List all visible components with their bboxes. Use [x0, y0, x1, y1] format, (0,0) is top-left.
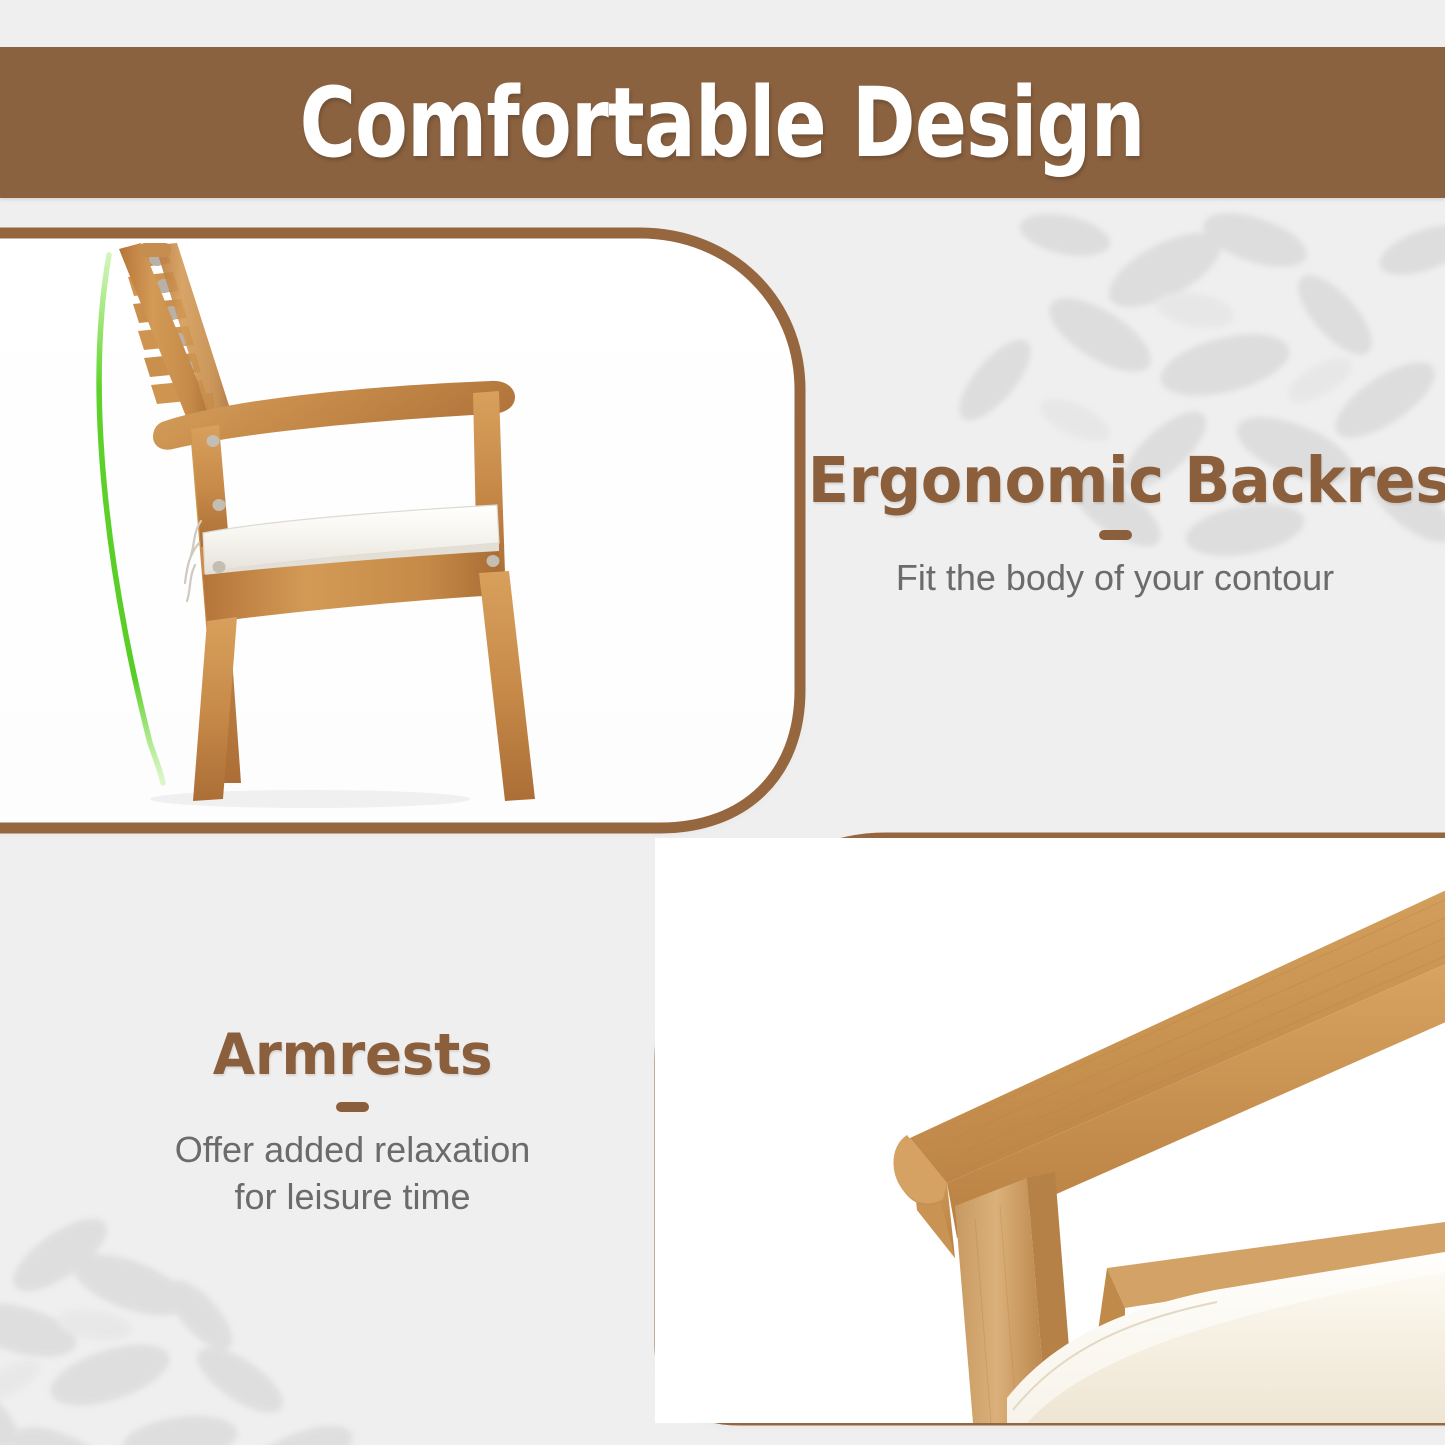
- infographic-page: Comfortable Design: [0, 0, 1445, 1445]
- feature-armrests: Armrests Offer added relaxation for leis…: [40, 1026, 665, 1221]
- armrest-image-panel: [655, 838, 1445, 1423]
- header-banner: Comfortable Design: [0, 47, 1445, 198]
- armrest-closeup-illustration: [655, 838, 1445, 1423]
- title-divider-dash: [1099, 530, 1132, 540]
- feature-title: Armrests: [53, 1026, 653, 1086]
- chair-side-view-illustration: [95, 243, 595, 818]
- page-title: Comfortable Design: [300, 75, 1145, 171]
- feature-subtitle: Fit the body of your contour: [795, 554, 1435, 602]
- backrest-image-panel: [0, 233, 800, 828]
- feature-subtitle-line-2: for leisure time: [40, 1173, 665, 1221]
- feature-title: Ergonomic Backrest: [808, 448, 1422, 514]
- feature-ergonomic-backrest: Ergonomic Backrest Fit the body of your …: [795, 448, 1435, 602]
- feature-subtitle-line-1: Offer added relaxation: [40, 1126, 665, 1174]
- title-divider-dash: [336, 1102, 369, 1112]
